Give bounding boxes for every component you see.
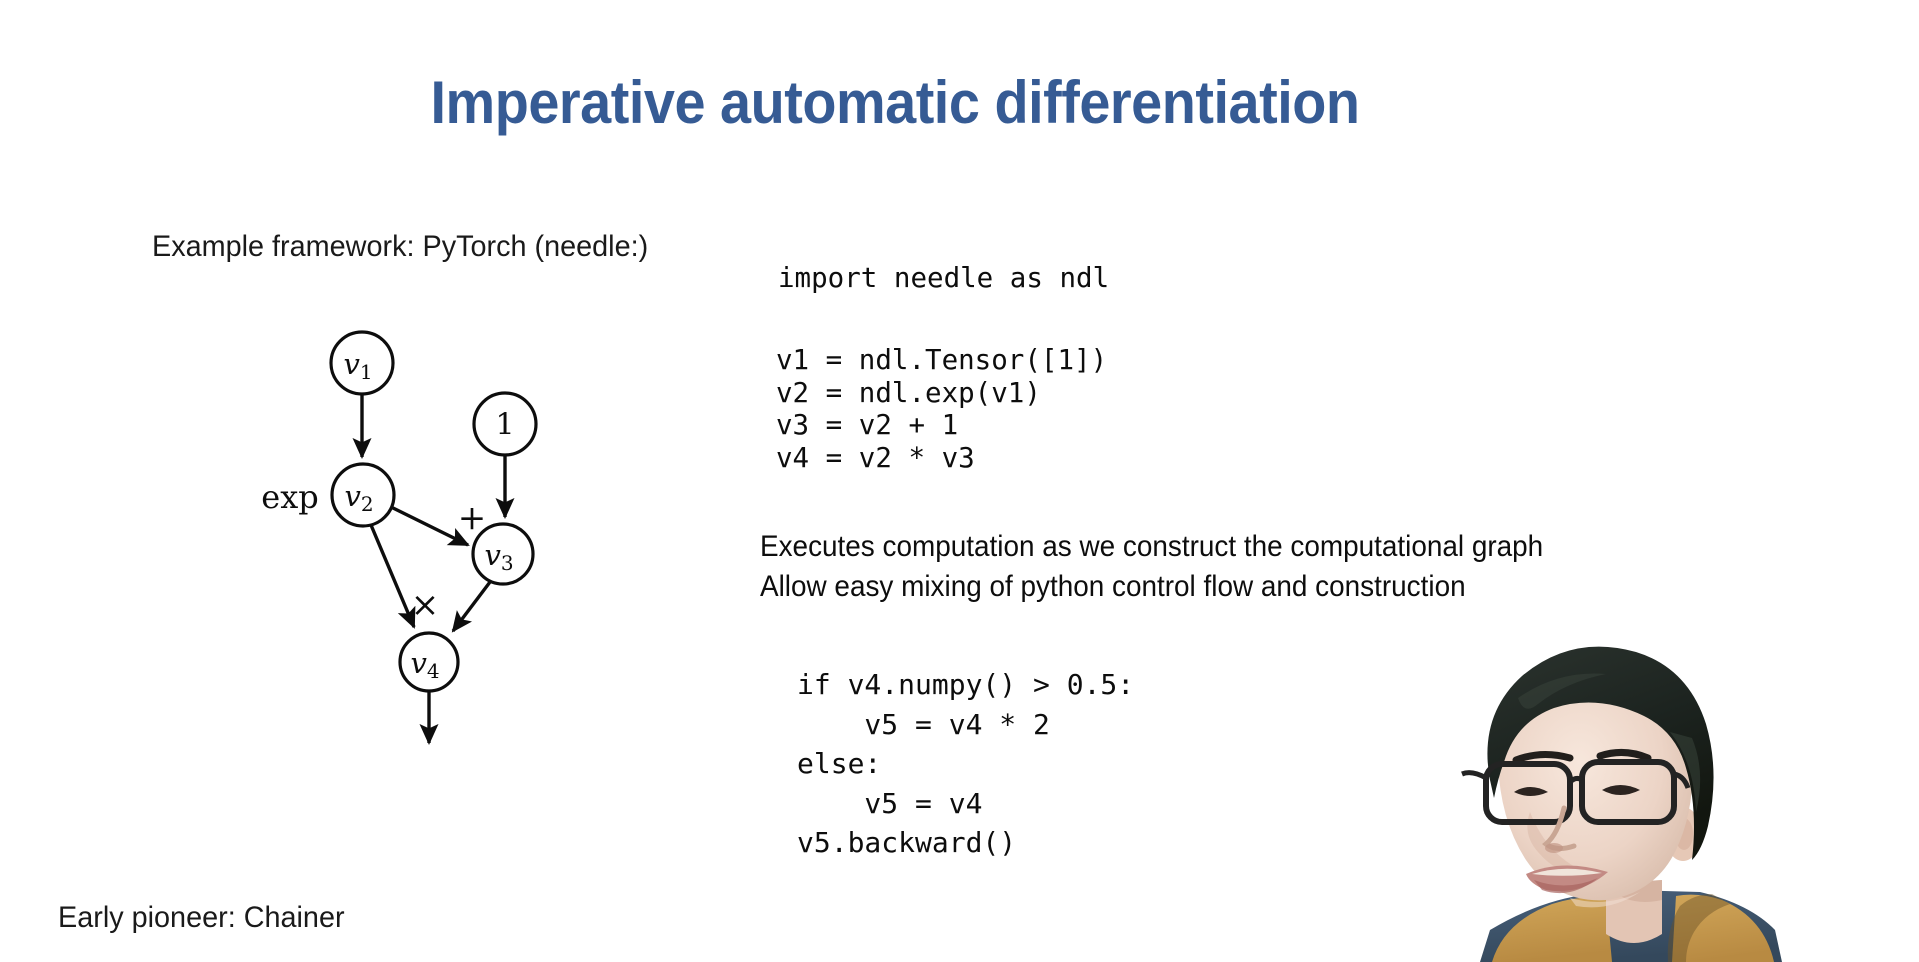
presenter-glasses-icon (1462, 762, 1688, 822)
presenter-hoodie (1480, 890, 1782, 962)
presenter-ear (1665, 807, 1701, 861)
slide-canvas: Imperative automatic differentiation Exa… (0, 0, 1919, 962)
page-title: Imperative automatic differentiation (63, 68, 1728, 137)
presenter-face (1498, 670, 1693, 900)
graph-node-v2: v2 (332, 464, 394, 526)
code-block-control-flow: if v4.numpy() > 0.5: v5 = v4 * 2 else: v… (797, 665, 1134, 863)
presenter-hair (1487, 647, 1713, 860)
presenter-mouth (1526, 865, 1608, 893)
presenter-neck (1606, 880, 1662, 943)
yellow-accent-circle (1862, 866, 1919, 962)
presenter-webcam-overlay (1430, 612, 1919, 962)
body-text-line-2: Allow easy mixing of python control flow… (760, 570, 1466, 604)
framework-caption: Example framework: PyTorch (needle:) (152, 230, 648, 264)
graph-node-constant-1: 1 (474, 393, 536, 455)
graph-node-v1: v1 (331, 332, 393, 394)
code-import-statement: import needle as ndl (778, 262, 1109, 294)
op-label-multiply: × (411, 585, 440, 625)
early-pioneer-caption: Early pioneer: Chainer (58, 901, 345, 935)
body-text-line-1: Executes computation as we construct the… (760, 530, 1543, 564)
edge-v2-v3 (391, 507, 468, 545)
edge-v2-v4 (371, 525, 414, 627)
presenter-eyebrows (1516, 752, 1648, 760)
presenter-nose (1545, 808, 1574, 853)
edge-v3-v4 (453, 582, 490, 631)
presenter-portrait (1430, 612, 1919, 962)
presenter-eyes (1514, 785, 1640, 796)
graph-node-v4: v4 (400, 633, 458, 691)
svg-text:1: 1 (495, 408, 514, 443)
code-block-graph-construction: v1 = ndl.Tensor([1]) v2 = ndl.exp(v1) v3… (776, 344, 1107, 474)
op-label-add: + (458, 498, 487, 538)
computational-graph-figure: v1 1 v2 v3 v4 (180, 300, 600, 770)
presenter-chin-highlight (1570, 892, 1640, 907)
op-label-exp: exp (261, 478, 318, 516)
